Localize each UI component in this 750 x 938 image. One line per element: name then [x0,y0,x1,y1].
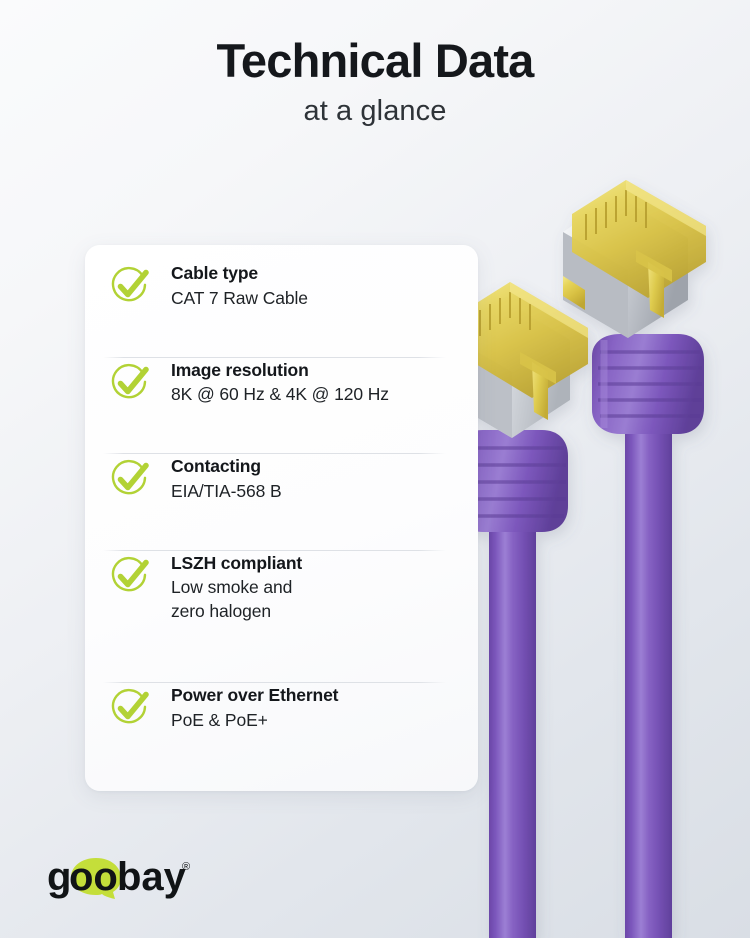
rj45-plug-right [572,180,706,318]
spec-value: EIA/TIA-568 B [171,480,282,503]
logo-text-g: g [47,855,71,899]
spec-row-lszh-compliant: LSZH compliant Low smoke and zero haloge… [85,551,478,683]
spec-value: CAT 7 Raw Cable [171,287,308,310]
spec-text: Contacting EIA/TIA-568 B [171,454,282,503]
logo-trademark-icon: ® [182,861,190,873]
spec-label: Power over Ethernet [171,684,338,707]
check-circle-icon [109,555,151,597]
spec-row-power-over-ethernet: Power over Ethernet PoE & PoE+ [85,683,478,779]
header: Technical Data at a glance [0,36,750,128]
spec-value: 8K @ 60 Hz & 4K @ 120 Hz [171,383,389,406]
cable-right [563,180,706,938]
spec-label: Cable type [171,262,308,285]
specifications-card: Cable type CAT 7 Raw Cable Image resolut… [85,245,478,791]
spec-row-image-resolution: Image resolution 8K @ 60 Hz & 4K @ 120 H… [85,358,478,454]
check-circle-icon [109,362,151,404]
strain-relief-boot-right [592,334,704,434]
goobay-logo: g oo bay ® [47,854,237,898]
check-circle-icon [109,458,151,500]
spec-text: Power over Ethernet PoE & PoE+ [171,683,338,732]
spec-value: PoE & PoE+ [171,709,338,732]
page-title: Technical Data [0,36,750,87]
spec-text: Cable type CAT 7 Raw Cable [171,261,308,310]
spec-label: Image resolution [171,359,389,382]
check-circle-icon [109,265,151,307]
spec-label: Contacting [171,455,282,478]
spec-text: LSZH compliant Low smoke and zero haloge… [171,551,302,623]
logo-text-bay: bay [117,855,187,899]
page-subtitle: at a glance [0,95,750,128]
spec-text: Image resolution 8K @ 60 Hz & 4K @ 120 H… [171,358,389,407]
infographic-canvas: Technical Data at a glance Cable type CA… [0,0,750,938]
logo-text-oo: oo [69,855,118,899]
spec-label: LSZH compliant [171,552,302,575]
check-circle-icon [109,687,151,729]
rj45-shield-right [563,196,688,338]
spec-row-contacting: Contacting EIA/TIA-568 B [85,454,478,550]
spec-value: Low smoke and zero halogen [171,576,302,623]
spec-row-cable-type: Cable type CAT 7 Raw Cable [85,261,478,357]
